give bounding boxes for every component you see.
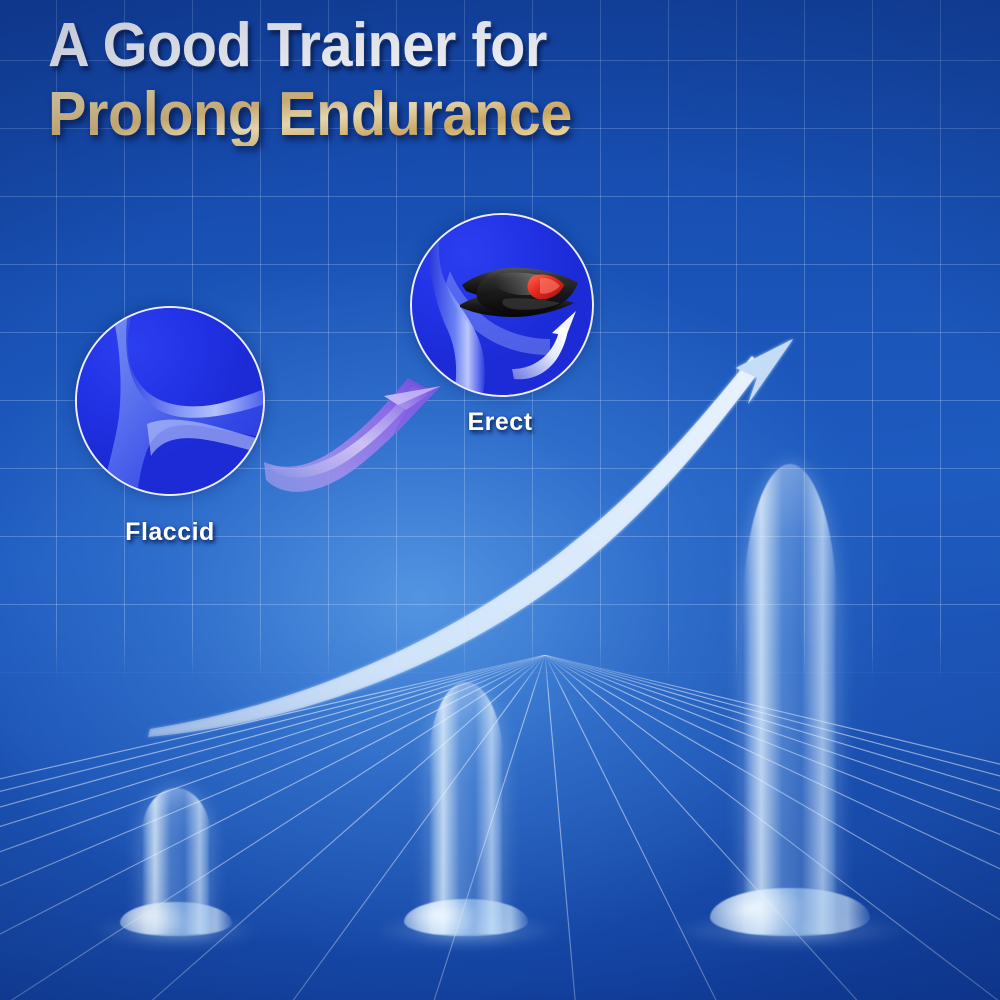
vignette-overlay	[0, 0, 1000, 1000]
marketing-graphic-canvas: Flaccid	[0, 0, 1000, 1000]
